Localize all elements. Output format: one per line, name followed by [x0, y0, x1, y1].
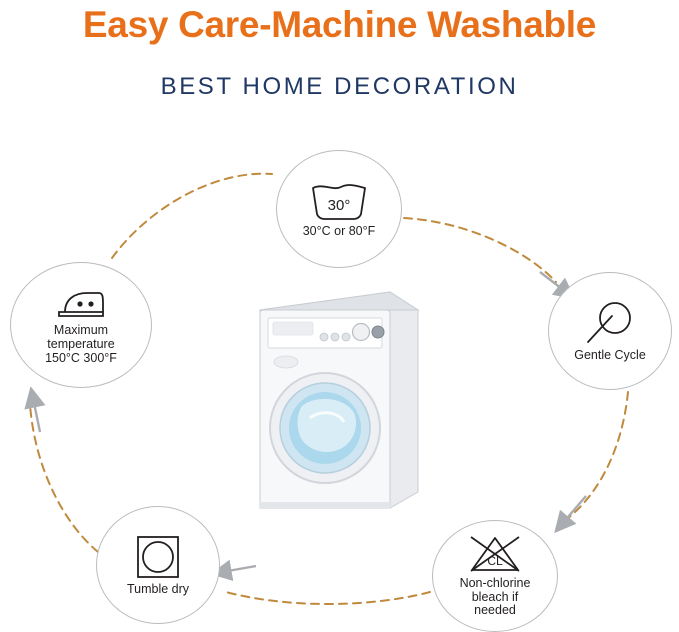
node-label: Non-chlorine bleach if needed: [460, 577, 531, 618]
no-chlorine-bleach-icon: CL: [466, 534, 524, 574]
node-label: Gentle Cycle: [574, 349, 646, 363]
node-tumble-dry[interactable]: Tumble dry: [96, 506, 220, 624]
node-wash-temperature[interactable]: 30° 30°C or 80°F: [276, 150, 402, 268]
iron-two-dots-icon: [53, 286, 109, 320]
wash-temp-value: 30°: [328, 197, 351, 214]
node-max-temperature[interactable]: Maximum temperature 150°C 300°F: [10, 262, 152, 388]
node-label: 30°C or 80°F: [303, 225, 376, 239]
node-gentle-cycle[interactable]: Gentle Cycle: [548, 272, 672, 390]
washing-machine-illustration: [240, 280, 430, 520]
bleach-symbol-text: CL: [487, 554, 503, 568]
wash-tub-30-icon: 30°: [309, 180, 369, 222]
gentle-cycle-icon: [582, 300, 638, 346]
infographic-root: Easy Care-Machine Washable BEST HOME DEC…: [0, 0, 679, 632]
tumble-dry-icon: [133, 534, 183, 580]
node-label: Tumble dry: [127, 583, 189, 597]
node-label: Maximum temperature 150°C 300°F: [45, 323, 117, 365]
node-non-chlorine-bleach[interactable]: CL Non-chlorine bleach if needed: [432, 520, 558, 632]
